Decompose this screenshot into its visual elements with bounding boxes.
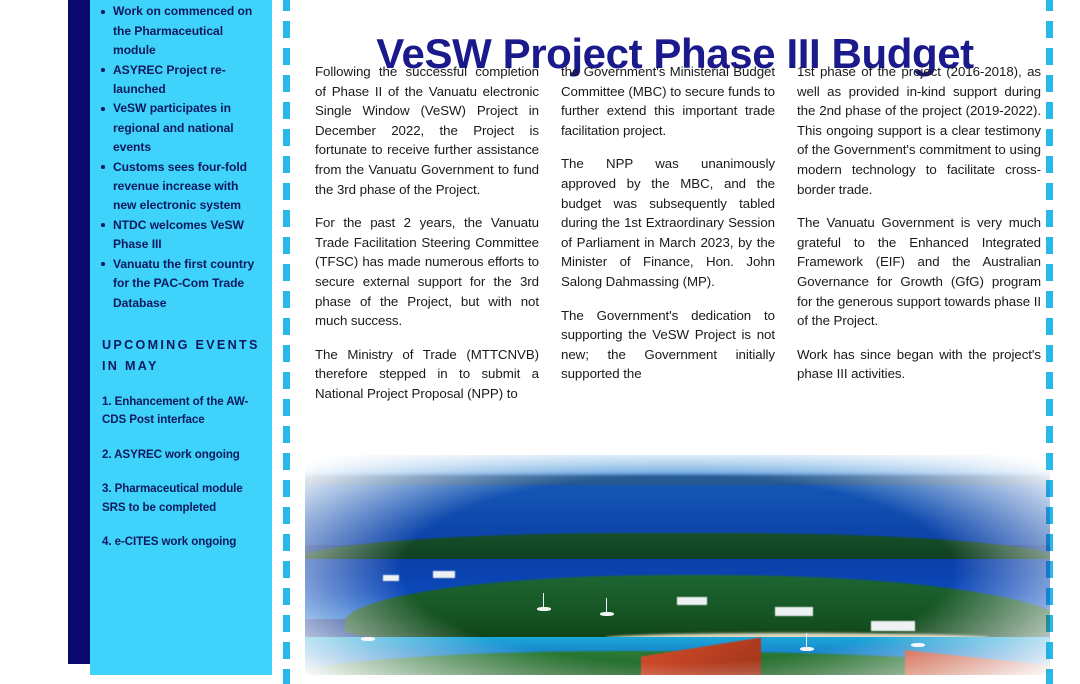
- paragraph: The NPP was unanimously approved by the …: [561, 154, 775, 291]
- list-item: VeSW participates in regional and nation…: [96, 99, 264, 157]
- paragraph: The Ministry of Trade (MTTCNVB) therefor…: [315, 345, 539, 404]
- list-item: NTDC welcomes VeSW Phase III: [96, 216, 264, 255]
- photo-boat-mast: [543, 593, 544, 608]
- article-body: Following the successful completion of P…: [315, 62, 1055, 452]
- photo-boat: [361, 637, 375, 641]
- newsletter-page: III Budget Work on commenced on the Phar…: [0, 0, 1080, 675]
- list-item: 3. Pharmaceutical module SRS to be compl…: [102, 480, 264, 517]
- article-column-3: 1st phase of the project (2016-2018), as…: [797, 62, 1041, 452]
- list-item: 2. ASYREC work ongoing: [102, 446, 264, 465]
- inside-this-issue-list: III Budget Work on commenced on the Phar…: [96, 0, 264, 313]
- paragraph: Following the successful completion of P…: [315, 62, 539, 199]
- dashed-divider-left: [283, 0, 290, 684]
- photo-boat-mast: [806, 633, 807, 648]
- paragraph: 1st phase of the project (2016-2018), as…: [797, 62, 1041, 199]
- article-column-2: the Government's Ministerial Budget Comm…: [561, 62, 775, 452]
- photo-building: [871, 621, 915, 631]
- photo-boat: [911, 643, 925, 647]
- harbour-photo: [305, 455, 1050, 675]
- list-item: 4. e-CITES work ongoing: [102, 533, 264, 552]
- paragraph: The Government's dedication to supportin…: [561, 306, 775, 384]
- navy-spine-decoration: [68, 0, 90, 664]
- paragraph: The Vanuatu Government is very much grat…: [797, 213, 1041, 331]
- upcoming-events-heading: UPCOMING EVENTS IN MAY: [102, 335, 264, 377]
- list-item: Vanuatu the first country for the PAC-Co…: [96, 255, 264, 313]
- upcoming-events-list: 1. Enhancement of the AW-CDS Post interf…: [102, 393, 264, 552]
- photo-building: [433, 571, 455, 578]
- harbour-photo-image: [305, 455, 1050, 675]
- photo-building: [775, 607, 813, 616]
- paragraph: Work has since began with the project's …: [797, 345, 1041, 384]
- list-item: Customs sees four-fold revenue increase …: [96, 158, 264, 216]
- paragraph: For the past 2 years, the Vanuatu Trade …: [315, 213, 539, 331]
- photo-building: [383, 575, 399, 581]
- paragraph: the Government's Ministerial Budget Comm…: [561, 62, 775, 140]
- article-column-1: Following the successful completion of P…: [315, 62, 539, 452]
- sidebar: III Budget Work on commenced on the Phar…: [90, 0, 272, 675]
- list-item: Work on commenced on the Pharmaceutical …: [96, 2, 264, 60]
- list-item: 1. Enhancement of the AW-CDS Post interf…: [102, 393, 264, 430]
- photo-building: [677, 597, 707, 605]
- list-item: ASYREC Project re-launched: [96, 61, 264, 100]
- photo-boat-mast: [606, 598, 607, 613]
